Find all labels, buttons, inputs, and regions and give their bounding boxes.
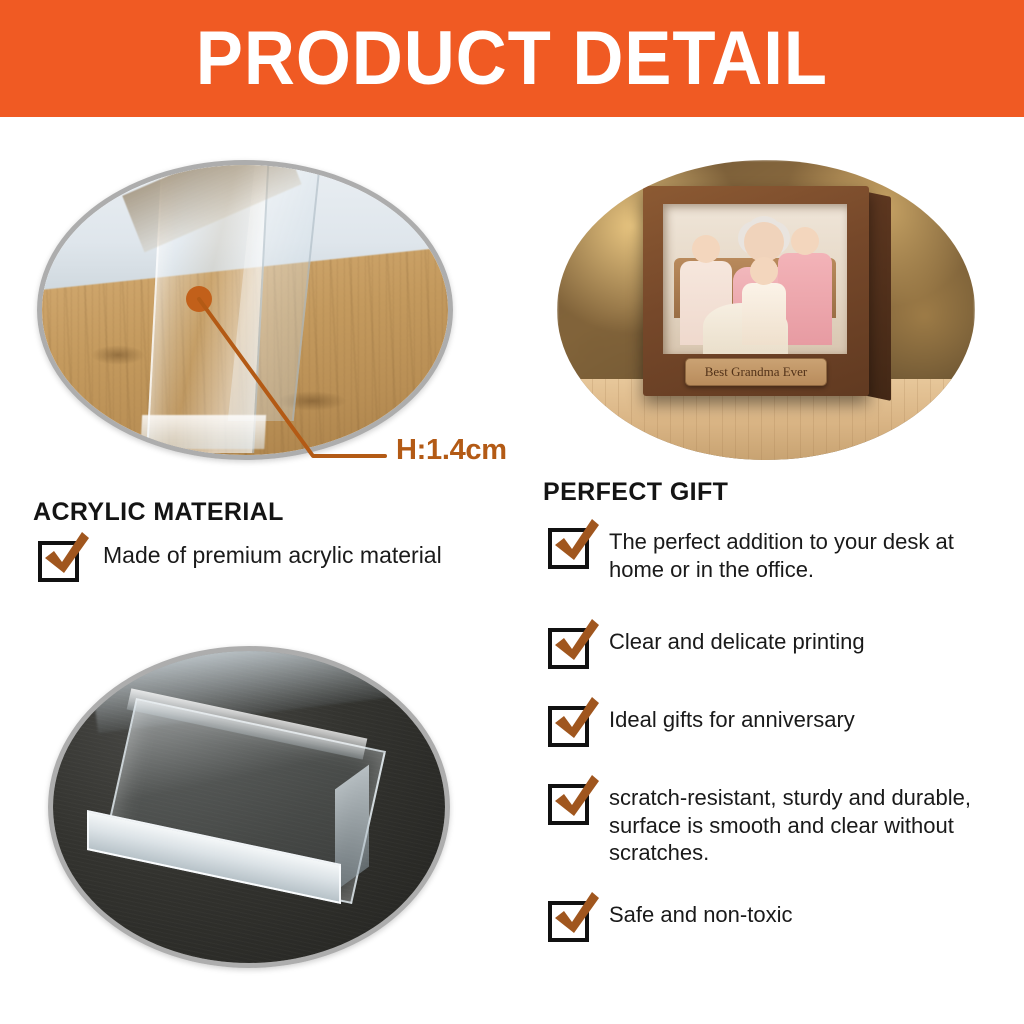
granddaughter-figure-middle <box>742 283 786 345</box>
checkbox-checked[interactable] <box>548 528 589 569</box>
frame-name-plaque: Best Grandma Ever <box>685 358 827 386</box>
page-header-banner: PRODUCT DETAIL <box>0 0 1024 117</box>
feature-item: Clear and delicate printing <box>548 628 1008 669</box>
checkbox-checked[interactable] <box>38 541 79 582</box>
photo-gift-frame: Best Grandma Ever <box>557 160 975 460</box>
feature-text: scratch-resistant, sturdy and durable, s… <box>609 784 1016 867</box>
feature-text: Clear and delicate printing <box>609 628 865 656</box>
check-icon <box>549 619 601 671</box>
feature-item: scratch-resistant, sturdy and durable, s… <box>548 784 1016 867</box>
feature-text: The perfect addition to your desk at hom… <box>609 528 1008 583</box>
head <box>692 235 720 263</box>
feature-item: Ideal gifts for anniversary <box>548 706 1008 747</box>
section-heading-acrylic-material: ACRYLIC MATERIAL <box>33 498 284 527</box>
checkbox-checked[interactable] <box>548 901 589 942</box>
check-icon <box>549 519 601 571</box>
thickness-callout-label: H:1.4cm <box>396 434 507 467</box>
checkbox-checked[interactable] <box>548 784 589 825</box>
thickness-callout-dot <box>186 286 212 312</box>
head <box>750 257 778 285</box>
check-icon <box>549 775 601 827</box>
feature-item: Made of premium acrylic material <box>38 541 508 582</box>
checkbox-checked[interactable] <box>548 706 589 747</box>
head <box>791 227 819 255</box>
check-icon <box>549 697 601 749</box>
photo-acrylic-edge <box>37 160 453 460</box>
wooden-shadowbox-frame: Best Grandma Ever <box>643 186 869 396</box>
page-title: PRODUCT DETAIL <box>196 21 828 97</box>
acrylic-bevel-bottom <box>140 415 266 449</box>
check-icon <box>549 892 601 944</box>
frame-plaque-text: Best Grandma Ever <box>705 364 808 380</box>
feature-text: Ideal gifts for anniversary <box>609 706 855 734</box>
feature-text: Safe and non-toxic <box>609 901 792 929</box>
grandma-figure-head <box>744 222 784 262</box>
feature-text: Made of premium acrylic material <box>103 541 442 570</box>
checkbox-checked[interactable] <box>548 628 589 669</box>
feature-item: Safe and non-toxic <box>548 901 1008 942</box>
section-heading-perfect-gift: PERFECT GIFT <box>543 478 728 507</box>
wooden-table-scene <box>42 165 448 455</box>
feature-item: The perfect addition to your desk at hom… <box>548 528 1008 583</box>
frame-scene <box>663 204 847 354</box>
check-icon <box>39 532 91 584</box>
photo-acrylic-block <box>48 646 450 968</box>
wood-knot <box>91 345 145 365</box>
